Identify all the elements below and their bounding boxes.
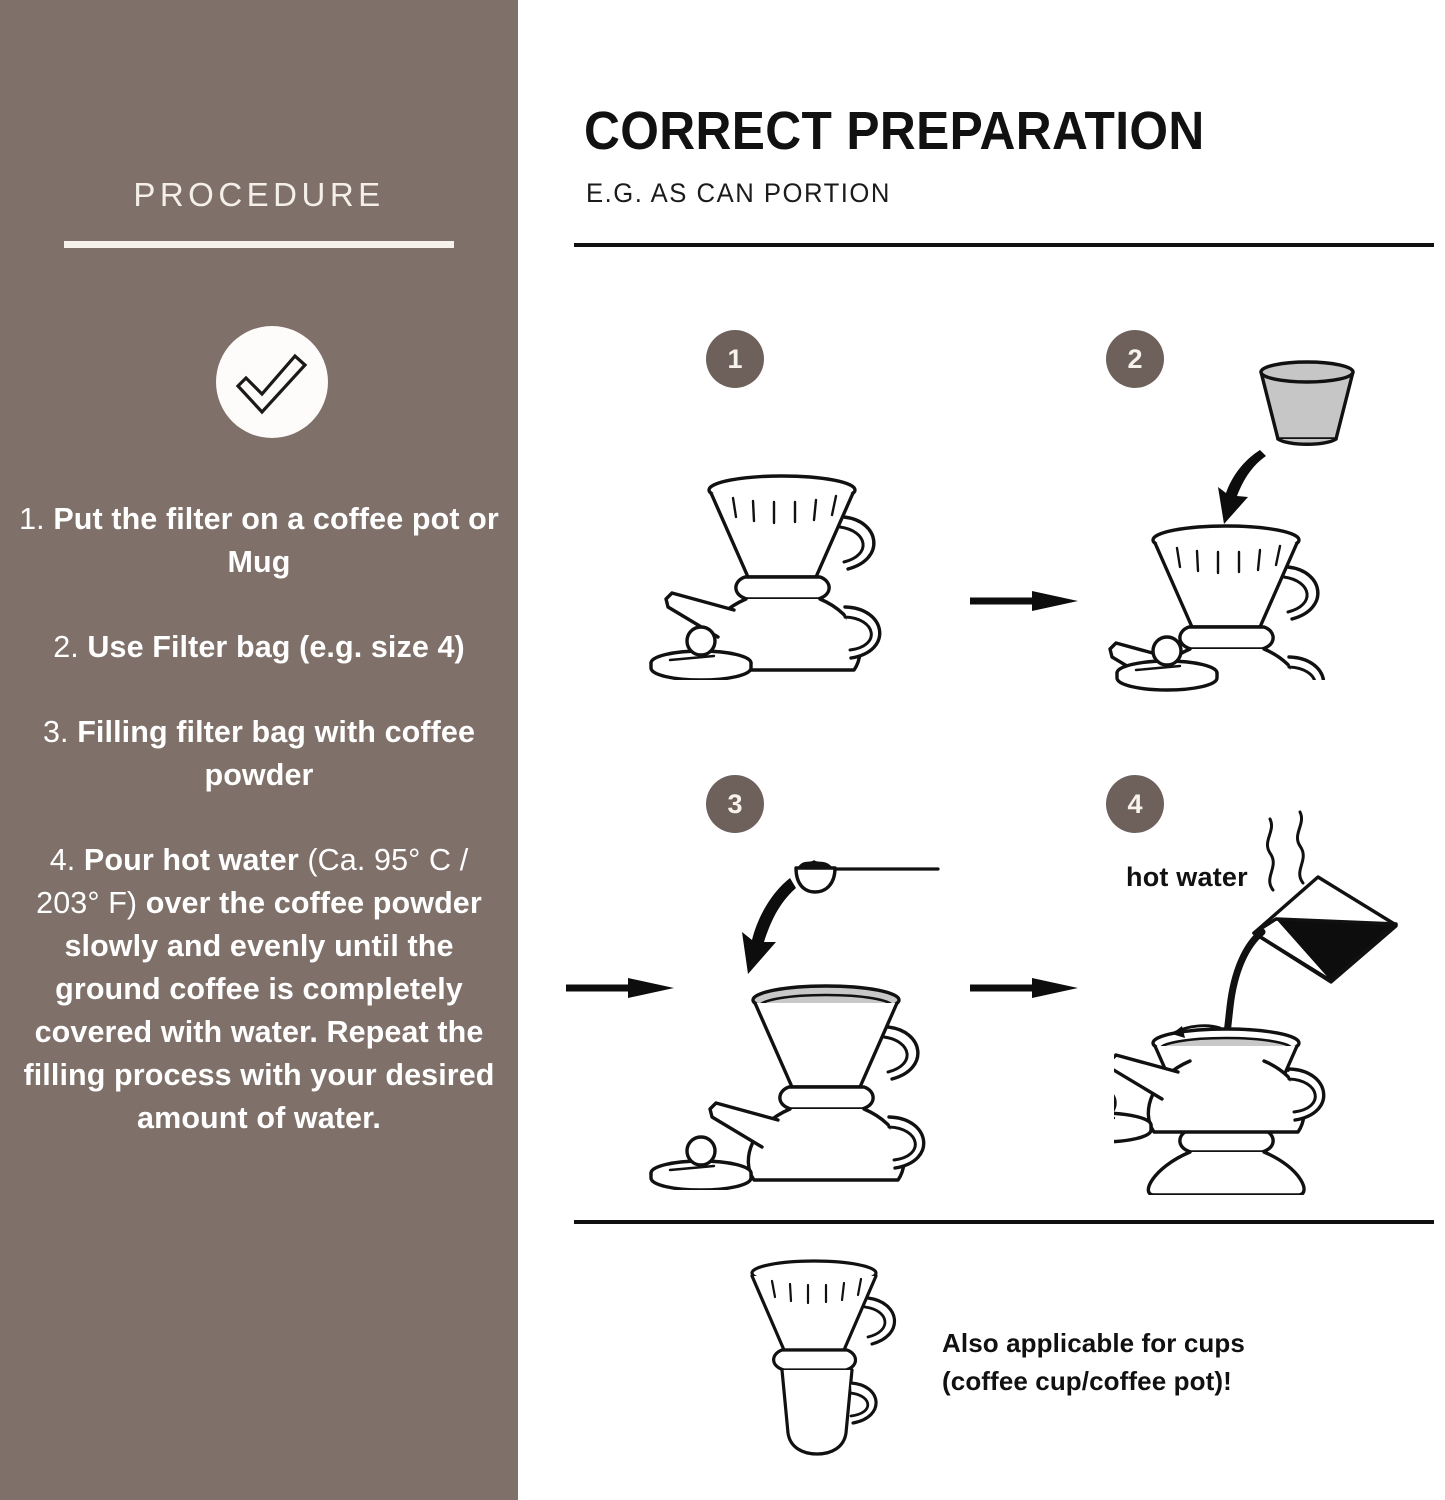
sidebar-divider bbox=[64, 241, 454, 248]
step-text: Put the filter on a coffee pot or Mug bbox=[53, 502, 499, 579]
list-item: 1. Put the filter on a coffee pot or Mug bbox=[18, 498, 500, 584]
step-badge-3: 3 bbox=[706, 775, 764, 833]
footer-note: Also applicable for cups (coffee cup/cof… bbox=[942, 1325, 1245, 1400]
illustration-step-3 bbox=[648, 860, 1008, 1195]
step-number: 4. bbox=[50, 843, 76, 877]
footer-note-line-1: Also applicable for cups bbox=[942, 1325, 1245, 1363]
illustration-step-1 bbox=[648, 465, 938, 685]
step-number: 3. bbox=[43, 715, 69, 749]
sidebar-heading: PROCEDURE bbox=[0, 176, 518, 214]
footer-divider bbox=[574, 1220, 1434, 1224]
preparation-panel: CORRECT PREPARATION E.G. AS CAN PORTION … bbox=[518, 0, 1445, 1500]
step-badge-1: 1 bbox=[706, 330, 764, 388]
illustration-step-4-pot bbox=[1114, 1035, 1414, 1210]
procedure-sidebar: PROCEDURE 1. Put the filter on a coffee … bbox=[0, 0, 518, 1500]
page-subtitle: E.G. AS CAN PORTION bbox=[586, 178, 891, 209]
list-item: 4. Pour hot water (Ca. 95° C / 203° F) o… bbox=[18, 839, 500, 1140]
list-item: 2. Use Filter bag (e.g. size 4) bbox=[18, 626, 500, 669]
step-body: over the coffee powder slowly and evenly… bbox=[23, 886, 494, 1135]
illustration-step-2-pot bbox=[1114, 555, 1374, 710]
checkmark-icon bbox=[216, 326, 328, 438]
infographic-page: PROCEDURE 1. Put the filter on a coffee … bbox=[0, 0, 1445, 1500]
step-text: Use Filter bag (e.g. size 4) bbox=[87, 630, 464, 664]
step-number: 1. bbox=[19, 502, 45, 536]
footer-note-line-2: (coffee cup/coffee pot)! bbox=[942, 1363, 1245, 1401]
step-text: Pour hot water bbox=[84, 843, 299, 877]
header-divider bbox=[574, 243, 1434, 247]
step-text: Filling filter bag with coffee powder bbox=[77, 715, 475, 792]
procedure-step-list: 1. Put the filter on a coffee pot or Mug… bbox=[18, 498, 500, 1140]
illustration-dripper-on-mug bbox=[722, 1255, 932, 1475]
step-number: 2. bbox=[53, 630, 79, 664]
page-title: CORRECT PREPARATION bbox=[584, 100, 1205, 162]
list-item: 3. Filling filter bag with coffee powder bbox=[18, 711, 500, 797]
